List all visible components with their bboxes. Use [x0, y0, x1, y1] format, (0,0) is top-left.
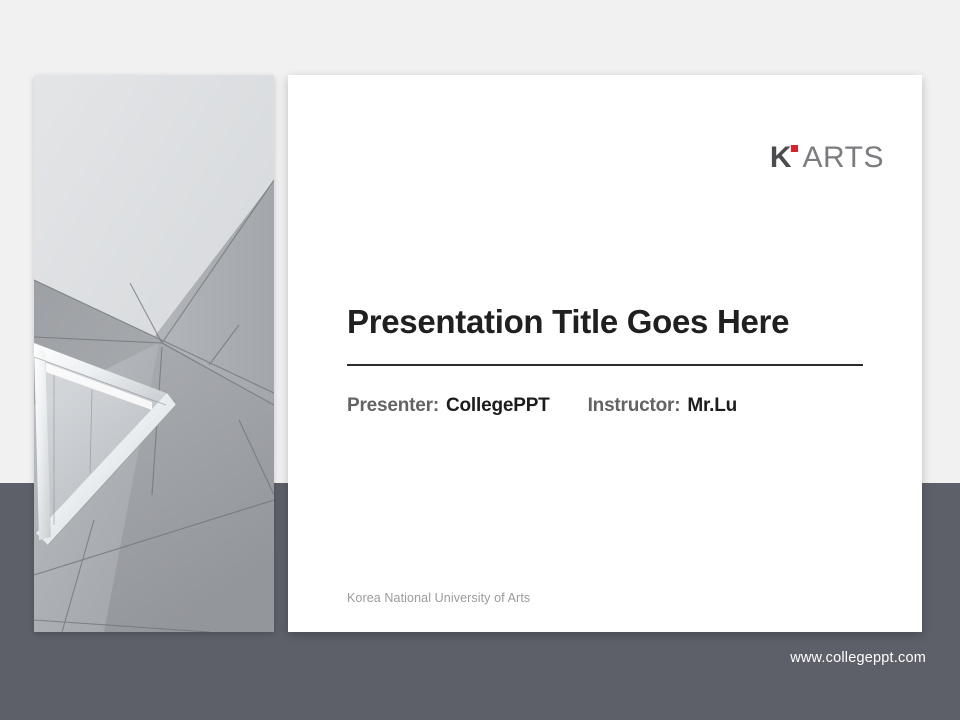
logo-letter-k: K [770, 143, 791, 173]
slide-stage: K ARTS Presentation Title Goes Here Pres… [0, 0, 960, 720]
architecture-photo [34, 75, 274, 632]
credit-value: CollegePPT [446, 395, 550, 417]
red-square-icon [791, 145, 798, 152]
credit-label: Instructor: [588, 395, 681, 417]
credits-row: Presenter: CollegePPT Instructor: Mr.Lu [347, 395, 737, 417]
page-title: Presentation Title Goes Here [347, 303, 863, 341]
credit-instructor: Instructor: Mr.Lu [588, 395, 737, 417]
photo-panel [34, 75, 274, 632]
title-block: Presentation Title Goes Here [347, 303, 863, 366]
credit-label: Presenter: [347, 395, 439, 417]
site-url: www.collegeppt.com [790, 650, 926, 666]
slide-card: K ARTS Presentation Title Goes Here Pres… [288, 75, 922, 632]
logo-k-wrap: K [770, 143, 791, 173]
k-arts-logo: K ARTS [770, 143, 884, 173]
logo-wordmark: ARTS [803, 143, 884, 173]
institution-footer: Korea National University of Arts [347, 591, 530, 605]
credit-presenter: Presenter: CollegePPT [347, 395, 550, 417]
credit-value: Mr.Lu [687, 395, 737, 417]
title-divider [347, 364, 863, 366]
